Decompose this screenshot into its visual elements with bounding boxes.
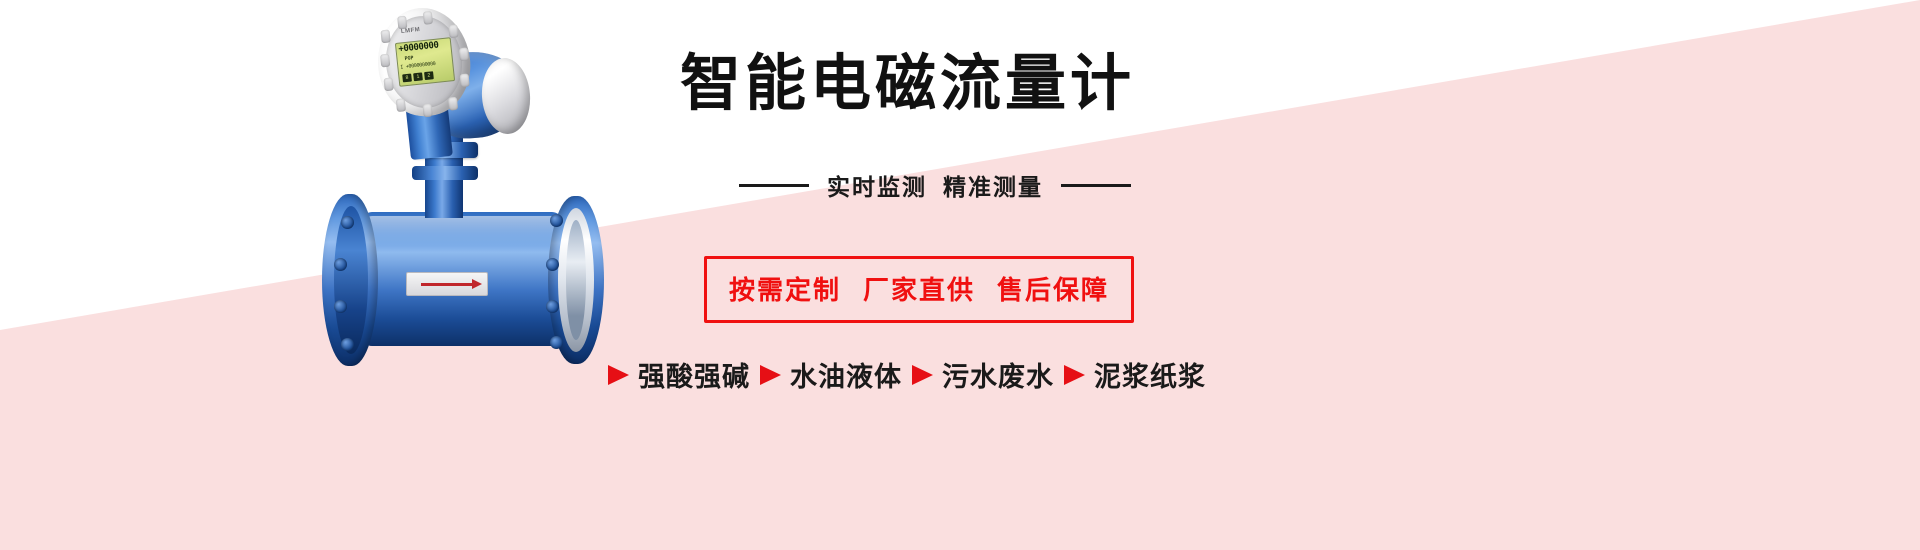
lcd-totalizer-value: I +0000000000 <box>400 62 436 71</box>
feature-label: 水油液体 <box>790 355 902 394</box>
lcd-display: +0000000 PGP I +0000000000 8 1 2 <box>395 37 455 87</box>
riser-flange-lower <box>412 166 478 180</box>
lcd-segment: 8 <box>402 74 412 83</box>
feature-item: 强酸强碱 <box>608 355 750 394</box>
arrow-right-icon <box>760 365 781 385</box>
feature-item: 水油液体 <box>760 355 902 394</box>
flange-bolt <box>546 300 559 313</box>
flowmeter-product-image: LMFM +0000000 PGP I +0000000000 8 1 2 <box>300 0 630 420</box>
feature-item: 污水废水 <box>912 355 1054 394</box>
left-flange-inner <box>334 206 368 354</box>
application-feature-list: 强酸强碱 水油液体 污水废水 泥浆纸浆 <box>608 355 1208 394</box>
banner-subtitle: 实时监测精准测量 <box>827 168 1043 202</box>
lcd-unit-label: PGP <box>404 56 414 62</box>
arrow-right-icon <box>1064 365 1085 385</box>
right-dash-divider <box>1061 184 1131 187</box>
lcd-segment: 2 <box>424 71 434 80</box>
subtitle-left-text: 实时监测 <box>827 174 927 200</box>
arrow-right-icon <box>608 365 629 385</box>
flange-bolt <box>550 214 563 227</box>
feature-item: 泥浆纸浆 <box>1064 355 1206 394</box>
flow-direction-plate <box>406 272 488 296</box>
left-dash-divider <box>739 184 809 187</box>
flange-bolt <box>546 258 559 271</box>
banner-subtitle-row: 实时监测精准测量 <box>700 168 1170 202</box>
service-promise-text: 按需定制厂家直供售后保障 <box>729 270 1109 307</box>
flange-bolt <box>341 338 354 351</box>
flange-bolt <box>334 300 347 313</box>
promise-item-1: 按需定制 <box>729 275 841 305</box>
promise-item-3: 售后保障 <box>997 275 1109 305</box>
flow-direction-arrow-icon <box>421 283 473 286</box>
subtitle-right-text: 精准测量 <box>943 174 1043 200</box>
flange-bolt <box>341 216 354 229</box>
lcd-main-value: +0000000 <box>398 42 439 55</box>
arrow-right-icon <box>912 365 933 385</box>
body-highlight <box>362 216 562 246</box>
feature-label: 污水废水 <box>942 355 1054 394</box>
flange-bolt <box>334 258 347 271</box>
product-banner: LMFM +0000000 PGP I +0000000000 8 1 2 智能… <box>0 0 1920 550</box>
lcd-segment: 1 <box>413 72 423 81</box>
service-promise-box: 按需定制厂家直供售后保障 <box>704 256 1134 323</box>
lcd-segment-row: 8 1 2 <box>402 71 434 82</box>
promise-item-2: 厂家直供 <box>863 275 975 305</box>
feature-label: 泥浆纸浆 <box>1094 355 1206 394</box>
banner-copy: 智能电磁流量计 实时监测精准测量 按需定制厂家直供售后保障 强酸强碱 水油液体 … <box>600 0 1700 550</box>
right-flange-bore <box>566 220 586 340</box>
banner-title: 智能电磁流量计 <box>680 48 1200 118</box>
flange-bolt <box>550 336 563 349</box>
feature-label: 强酸强碱 <box>638 355 750 394</box>
